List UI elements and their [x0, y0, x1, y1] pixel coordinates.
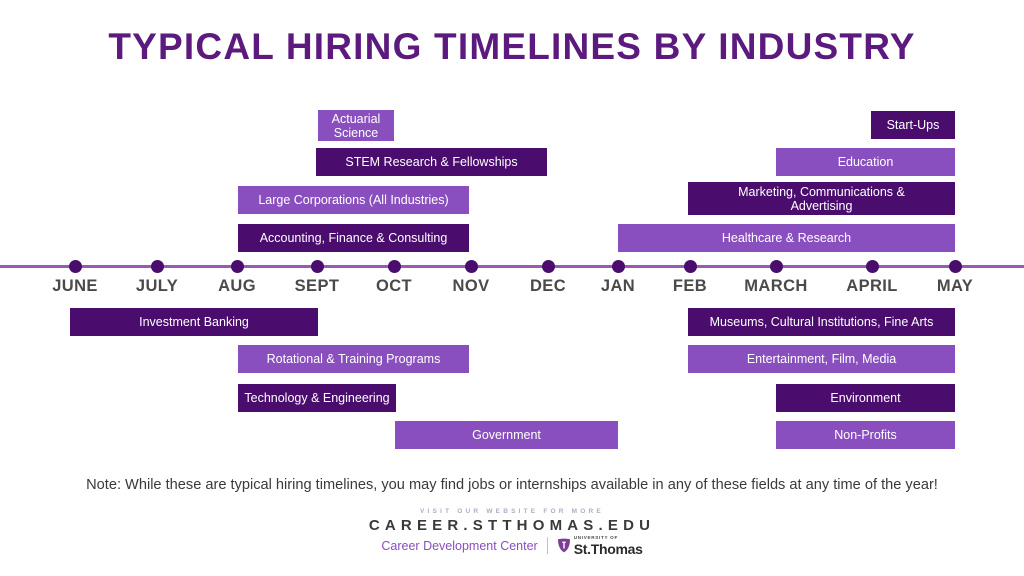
- timeline-bar-label: Environment: [830, 391, 900, 405]
- timeline-bar: Healthcare & Research: [618, 224, 955, 252]
- timeline-bar-label: Large Corporations (All Industries): [258, 193, 448, 207]
- axis-label-jan: JAN: [601, 277, 635, 296]
- timeline-bar-label: Non-Profits: [834, 428, 897, 442]
- axis-dot-jan: [612, 260, 625, 273]
- axis-dot-aug: [231, 260, 244, 273]
- timeline-bar-label: Accounting, Finance & Consulting: [260, 231, 448, 245]
- axis-label-april: APRIL: [846, 277, 898, 296]
- timeline-bar-label: Marketing, Communications &Advertising: [738, 185, 905, 213]
- timeline-bar: Non-Profits: [776, 421, 955, 449]
- axis-label-oct: OCT: [376, 277, 412, 296]
- timeline-bar: Accounting, Finance & Consulting: [238, 224, 469, 252]
- university-of-st-thomas-logo: UNIVERSITY OF St.Thomas: [557, 536, 643, 556]
- axis-label-nov: NOV: [453, 277, 490, 296]
- shield-icon: [557, 538, 571, 553]
- timeline-bar-label: ActuarialScience: [332, 112, 381, 140]
- axis-label-sept: SEPT: [295, 277, 340, 296]
- axis-dot-july: [151, 260, 164, 273]
- axis-label-july: JULY: [136, 277, 178, 296]
- timeline-bar: Environment: [776, 384, 955, 412]
- axis-dot-oct: [388, 260, 401, 273]
- timeline-bar: STEM Research & Fellowships: [316, 148, 547, 176]
- axis-dot-march: [770, 260, 783, 273]
- timeline-bar-label: Rotational & Training Programs: [267, 352, 441, 366]
- brand-footer: Career Development Center UNIVERSITY OF …: [0, 536, 1024, 556]
- axis-dot-nov: [465, 260, 478, 273]
- timeline-bar: Government: [395, 421, 618, 449]
- timeline-bar: Museums, Cultural Institutions, Fine Art…: [688, 308, 955, 336]
- axis-label-aug: AUG: [218, 277, 256, 296]
- timeline-bar-label: Museums, Cultural Institutions, Fine Art…: [710, 315, 934, 329]
- axis-label-may: MAY: [937, 277, 973, 296]
- timeline-bar-label: Government: [472, 428, 541, 442]
- timeline-bar: Technology & Engineering: [238, 384, 396, 412]
- timeline-bar-label: Healthcare & Research: [722, 231, 851, 245]
- infographic-canvas: TYPICAL HIRING TIMELINES BY INDUSTRY Act…: [0, 0, 1024, 576]
- axis-dot-dec: [542, 260, 555, 273]
- axis-dot-sept: [311, 260, 324, 273]
- timeline-bar: Large Corporations (All Industries): [238, 186, 469, 214]
- axis-label-june: JUNE: [52, 277, 98, 296]
- axis-dot-may: [949, 260, 962, 273]
- footnote-text: Note: While these are typical hiring tim…: [0, 477, 1024, 493]
- timeline-bar: Education: [776, 148, 955, 176]
- timeline-bar: Rotational & Training Programs: [238, 345, 469, 373]
- timeline-bar: Marketing, Communications &Advertising: [688, 182, 955, 215]
- website-url[interactable]: CAREER.STTHOMAS.EDU: [0, 517, 1024, 534]
- axis-dot-june: [69, 260, 82, 273]
- timeline-bar: Start-Ups: [871, 111, 955, 139]
- timeline-bar-label: Technology & Engineering: [244, 391, 389, 405]
- timeline-bar-label: Education: [838, 155, 894, 169]
- axis-label-dec: DEC: [530, 277, 566, 296]
- timeline-bar-label: STEM Research & Fellowships: [345, 155, 517, 169]
- timeline-bar: Entertainment, Film, Media: [688, 345, 955, 373]
- timeline-bar-label: Start-Ups: [887, 118, 940, 132]
- logo-name: St.Thomas: [574, 542, 643, 556]
- university-logo-text: UNIVERSITY OF St.Thomas: [574, 536, 643, 556]
- axis-label-feb: FEB: [673, 277, 707, 296]
- visit-website-kicker: VISIT OUR WEBSITE FOR MORE: [0, 508, 1024, 515]
- timeline-bar-label: Investment Banking: [139, 315, 249, 329]
- axis-label-march: MARCH: [744, 277, 807, 296]
- page-title: TYPICAL HIRING TIMELINES BY INDUSTRY: [0, 26, 1024, 68]
- timeline-bar-label: Entertainment, Film, Media: [747, 352, 896, 366]
- axis-dot-april: [866, 260, 879, 273]
- brand-divider: [547, 537, 548, 554]
- career-development-center-label: Career Development Center: [381, 539, 537, 553]
- timeline-bar: ActuarialScience: [318, 110, 394, 141]
- logo-kicker: UNIVERSITY OF: [574, 536, 643, 541]
- timeline-bar: Investment Banking: [70, 308, 318, 336]
- axis-dot-feb: [684, 260, 697, 273]
